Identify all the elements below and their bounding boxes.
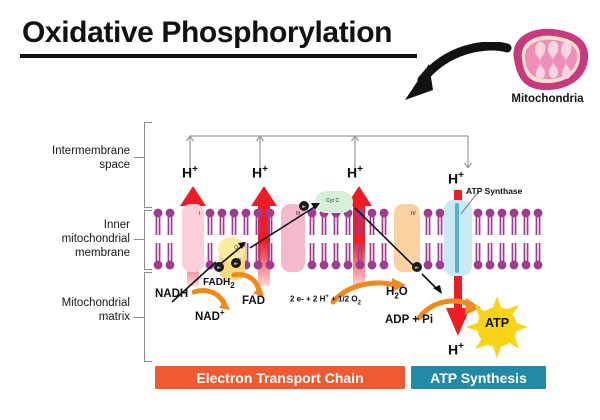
nad-text: NAD (195, 311, 220, 323)
molecule-fadh2: FADH2 (203, 277, 235, 290)
proton-gradient-guides (180, 128, 485, 176)
rxn-sub2: 2 (358, 300, 361, 306)
fadh2-text: FADH (203, 277, 230, 288)
bracket-ims-tick (134, 157, 144, 158)
hplus-2-text: H (252, 165, 262, 181)
footer-atp-synthesis: ATP Synthesis (411, 366, 546, 389)
proton-label-4: H+ (448, 170, 464, 187)
proton-label-5-matrix: H+ (448, 341, 464, 358)
imm-line3: membrane (14, 246, 130, 260)
atp-synthesis-label: ATP Synthesis (430, 370, 527, 386)
bracket-imm-vertical (144, 210, 145, 270)
electron-bead-3: e- (299, 201, 309, 211)
diagram-canvas: Oxidative Phosphorylation Mitochondria I… (0, 0, 600, 420)
nad-sup: + (220, 308, 225, 317)
imm-line1: Inner (14, 218, 130, 232)
hplus-1-text: H (182, 165, 192, 181)
fadh2-sub: 2 (230, 281, 234, 290)
imm-line2: mitochondrial (14, 232, 130, 246)
reaction-equation: 2 e- + 2 H+ + 1/2 O2 (290, 294, 361, 306)
label-intermembrane-space: Intermembrane space (14, 144, 130, 172)
proton-label-3: H+ (347, 164, 363, 181)
hplus-2-sup: + (262, 164, 268, 175)
label-inner-mitochondrial-membrane: Inner mitochondrial membrane (14, 218, 130, 260)
hplus-4-text: H (448, 171, 458, 187)
electron-bead-4: e- (412, 262, 422, 272)
rxn-part1: 2 e- + 2 H (290, 295, 325, 304)
proton-label-1: H+ (182, 164, 198, 181)
molecule-water: H2O (386, 286, 408, 300)
water-o: O (399, 286, 408, 298)
ims-line2: space (14, 158, 130, 172)
ims-line1: Intermembrane (14, 144, 130, 158)
hplus-4-sup: + (458, 170, 464, 181)
label-mitochondrial-matrix: Mitochondrial matrix (14, 296, 130, 324)
hplus-3-sup: + (357, 164, 363, 175)
bracket-matrix-vertical (144, 272, 145, 362)
matrix-line1: Mitochondrial (14, 296, 130, 310)
hplus-1-sup: + (192, 164, 198, 175)
etc-label: Electron Transport Chain (196, 370, 363, 386)
molecule-adp-pi: ADP + Pi (385, 314, 433, 326)
bracket-matrix-tick (134, 317, 144, 318)
hplus-5-sup: + (458, 341, 464, 352)
bracket-ims-vertical (144, 122, 145, 208)
bracket-ims-top (144, 122, 152, 123)
bracket-matrix-bottom (144, 361, 152, 362)
atp-label: ATP (466, 316, 528, 330)
title-underline (20, 54, 417, 58)
hplus-3-text: H (347, 165, 357, 181)
electron-bead-1: e- (214, 262, 224, 272)
bracket-imm-tick (134, 239, 144, 240)
molecule-nad-plus: NAD+ (195, 308, 225, 323)
electron-bead-2: e- (231, 258, 241, 268)
matrix-line2: matrix (14, 310, 130, 324)
rxn-part2: + 1/2 O (329, 295, 358, 304)
pointer-arrow-icon (395, 42, 515, 107)
page-title: Oxidative Phosphorylation (22, 16, 392, 50)
molecule-fad: FAD (242, 295, 265, 307)
footer-electron-transport-chain: Electron Transport Chain (155, 366, 405, 389)
hplus-5-text: H (448, 342, 458, 358)
proton-label-2: H+ (252, 164, 268, 181)
molecule-nadh: NADH (155, 288, 188, 300)
